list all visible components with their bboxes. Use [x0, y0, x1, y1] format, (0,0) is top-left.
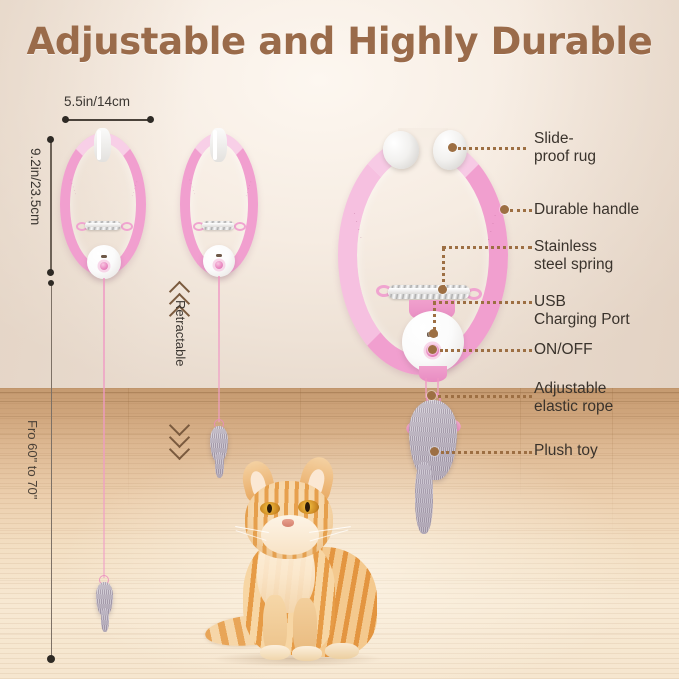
hub-bottom-collar [419, 366, 447, 382]
floor-grain [520, 388, 521, 498]
spring-hook-icon [121, 222, 133, 231]
usb-port-icon [216, 254, 222, 257]
callout-line-plush-toy [441, 451, 532, 454]
product-infographic: Adjustable and Highly Durable 5.5in/14cm… [0, 0, 679, 679]
retractable-label: Retractable [173, 300, 188, 366]
callout-label-plush-toy: Plush toy [534, 442, 598, 460]
plush-tail [101, 608, 109, 632]
cat-illustration [205, 455, 385, 670]
power-button-icon [100, 262, 108, 270]
plush-tail-body [415, 462, 433, 534]
callout-label-adjustable-rope: Adjustable elastic rope [534, 380, 613, 416]
height-dimension-endpoint [47, 269, 54, 276]
suction-cup-highlight [213, 130, 217, 160]
callout-line-slide-proof-rug [458, 147, 526, 150]
cat-nose [282, 519, 294, 527]
height-dimension-label: 9.2in/23.5cm [28, 148, 43, 225]
floor-plank-line [0, 416, 679, 417]
callout-dot-plush-toy [430, 447, 439, 456]
drop-dimension-label: Fro 60" to 70" [25, 420, 40, 499]
callout-line-durable-handle [510, 209, 532, 212]
usb-port-icon [101, 255, 107, 258]
cat-pupil [305, 502, 310, 512]
callout-line-on-off [440, 349, 532, 352]
width-dimension-endpoint [147, 116, 154, 123]
callout-dot-slide-proof-rug [448, 143, 457, 152]
callout-label-slide-proof-rug: Slide- proof rug [534, 130, 596, 166]
callout-label-on-off: ON/OFF [534, 341, 593, 359]
cat-hind-paw [325, 643, 359, 659]
plush-tail [415, 462, 433, 534]
cat-pupil [267, 504, 272, 513]
spring-hook-icon [234, 222, 246, 231]
spring-rod [85, 223, 121, 227]
width-dimension-label: 5.5in/14cm [64, 94, 130, 109]
plush-tail-body [101, 608, 109, 632]
callout-label-stainless-spring: Stainless steel spring [534, 238, 613, 274]
callout-dot-adjustable-rope [427, 391, 436, 400]
height-dimension-line [50, 139, 52, 273]
drop-dimension-endpoint [47, 655, 55, 663]
drop-dimension-endpoint [48, 280, 54, 286]
cat-paw [260, 645, 290, 660]
callout-line-adjustable-rope [438, 395, 532, 398]
elastic-rope [103, 278, 105, 578]
floor-plank-line [0, 434, 679, 435]
callout-line-usb-port-v [433, 301, 436, 331]
spring-rod [202, 223, 234, 227]
power-button-icon [215, 261, 223, 269]
drop-dimension-line [51, 283, 52, 658]
callout-dot-on-off [428, 345, 437, 354]
callout-line-stainless-spring-v [442, 248, 445, 288]
spring-rod [388, 288, 470, 294]
suction-cup-highlight [97, 130, 101, 160]
width-dimension-line [66, 119, 150, 121]
callout-line-stainless-spring-h [442, 246, 532, 249]
height-dimension-endpoint [47, 136, 54, 143]
callout-dot-durable-handle [500, 205, 509, 214]
cat-paw [292, 646, 322, 661]
page-title: Adjustable and Highly Durable [0, 20, 679, 63]
callout-line-usb-port [439, 301, 532, 304]
width-dimension-endpoint [62, 116, 69, 123]
elastic-rope [218, 276, 220, 422]
floor-grain [128, 388, 129, 508]
callout-label-usb-port: USB Charging Port [534, 293, 630, 329]
callout-label-durable-handle: Durable handle [534, 201, 639, 219]
